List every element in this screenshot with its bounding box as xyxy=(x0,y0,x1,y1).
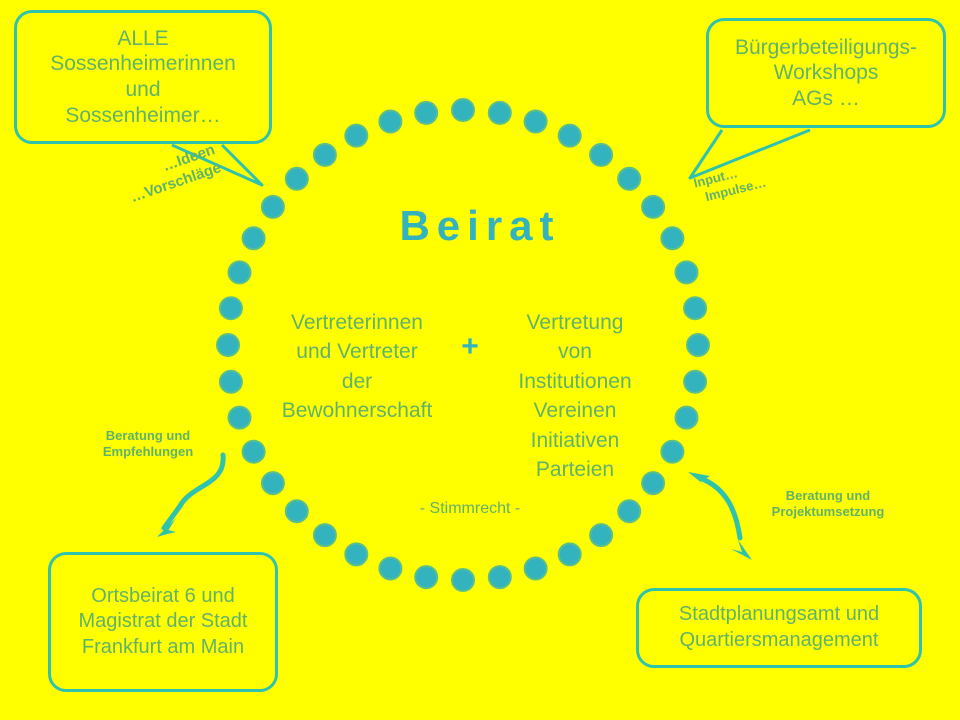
ring-dot xyxy=(220,297,242,319)
bubble-line: Sossenheimer… xyxy=(17,103,269,129)
column-line: Vertreterinnen xyxy=(262,308,452,337)
box-line: Ortsbeirat 6 xyxy=(91,585,195,607)
ring-dot xyxy=(687,334,709,356)
box-line: Stadtplanungsamt und xyxy=(679,603,879,625)
ring-dot xyxy=(676,407,698,429)
column-line: der xyxy=(262,367,452,396)
bubble-line: ALLE xyxy=(17,26,269,52)
column-line: Initiativen xyxy=(480,426,670,455)
bubble-line: Sossenheimerinnen xyxy=(17,51,269,77)
column-line: Institutionen xyxy=(480,367,670,396)
arrow-beratung-projektumsetzung xyxy=(688,472,752,560)
ring-dot xyxy=(452,99,474,121)
ring-dot xyxy=(217,334,239,356)
ring-dot xyxy=(345,125,367,147)
ring-dot xyxy=(243,441,265,463)
ring-dot xyxy=(618,168,640,190)
annotation-ideen-vorschlaege: …Ideen …Vorschläge xyxy=(122,141,224,207)
ring-dot xyxy=(489,102,511,124)
bubble-buergerbeteiligungs-workshops[interactable]: Bürgerbeteiligungs- Workshops AGs … xyxy=(706,18,946,128)
column-line: und Vertreter xyxy=(262,337,452,366)
label-line: Beratung und xyxy=(748,488,908,504)
ring-dot xyxy=(220,371,242,393)
ring-dot xyxy=(525,558,547,580)
ring-dot xyxy=(379,558,401,580)
ring-dot xyxy=(676,261,698,283)
bubble-line: AGs … xyxy=(709,86,943,112)
ring-dot xyxy=(684,371,706,393)
label-beratung-projektumsetzung: Beratung und Projektumsetzung xyxy=(748,488,908,521)
label-line: Beratung und xyxy=(78,428,218,444)
ring-dot xyxy=(559,543,581,565)
bubble-line: Workshops xyxy=(709,60,943,86)
box-ortsbeirat-text: Ortsbeirat 6 und Magistrat der Stadt Fra… xyxy=(51,584,275,661)
bubble-line: und xyxy=(17,77,269,103)
arrow-beratung-empfehlungen xyxy=(157,455,223,537)
column-line: Vereinen xyxy=(480,396,670,425)
annotation-input-impulse: Input… Impulse… xyxy=(692,159,768,207)
column-institutionen: Vertretung von Institutionen Vereinen In… xyxy=(480,308,670,484)
label-beratung-empfehlungen: Beratung und Empfehlungen xyxy=(78,428,218,461)
bubble-workshops-text: Bürgerbeteiligungs- Workshops AGs … xyxy=(709,35,943,112)
column-bewohnerschaft: Vertreterinnen und Vertreter der Bewohne… xyxy=(262,308,452,426)
ring-dot xyxy=(229,261,251,283)
bubble-alle-sossenheimer[interactable]: ALLE Sossenheimerinnen und Sossenheimer… xyxy=(14,10,272,144)
column-line: von xyxy=(480,337,670,366)
ring-dot xyxy=(286,168,308,190)
ring-dot xyxy=(415,102,437,124)
label-line: Projektumsetzung xyxy=(748,504,908,520)
ring-dot xyxy=(286,500,308,522)
box-line: Magistrat der Stadt xyxy=(79,610,248,632)
ring-dot xyxy=(684,297,706,319)
page-title-beirat: Beirat xyxy=(0,202,960,250)
ring-dot xyxy=(559,125,581,147)
ring-dot xyxy=(590,144,612,166)
box-line: Frankfurt am Main xyxy=(82,636,244,658)
footnote-stimmrecht: - Stimmrecht - xyxy=(340,500,600,518)
ring-dot xyxy=(314,524,336,546)
bubble-line: Bürgerbeteiligungs- xyxy=(709,35,943,61)
box-line: und xyxy=(201,585,234,607)
ring-dot xyxy=(345,543,367,565)
ring-dot xyxy=(415,566,437,588)
column-line: Vertretung xyxy=(480,308,670,337)
box-stadtplanungsamt-quartiersmanagement[interactable]: Stadtplanungsamt und Quartiersmanagement xyxy=(636,588,922,668)
ring-dot xyxy=(314,144,336,166)
ring-dot xyxy=(525,111,547,133)
box-line: Quartiersmanagement xyxy=(680,629,879,651)
box-ortsbeirat-magistrat[interactable]: Ortsbeirat 6 und Magistrat der Stadt Fra… xyxy=(48,552,278,692)
ring-dot xyxy=(262,472,284,494)
box-stadtplanung-text: Stadtplanungsamt und Quartiersmanagement xyxy=(639,602,919,653)
ring-dot xyxy=(590,524,612,546)
column-line: Parteien xyxy=(480,455,670,484)
diagram-canvas: ALLE Sossenheimerinnen und Sossenheimer…… xyxy=(0,0,960,720)
bubble-alle-text: ALLE Sossenheimerinnen und Sossenheimer… xyxy=(17,26,269,128)
ring-dot xyxy=(489,566,511,588)
ring-dot xyxy=(379,111,401,133)
ring-dot xyxy=(229,407,251,429)
label-line: Empfehlungen xyxy=(78,444,218,460)
ring-dot xyxy=(618,500,640,522)
ring-dot xyxy=(452,569,474,591)
column-line: Bewohnerschaft xyxy=(262,396,452,425)
